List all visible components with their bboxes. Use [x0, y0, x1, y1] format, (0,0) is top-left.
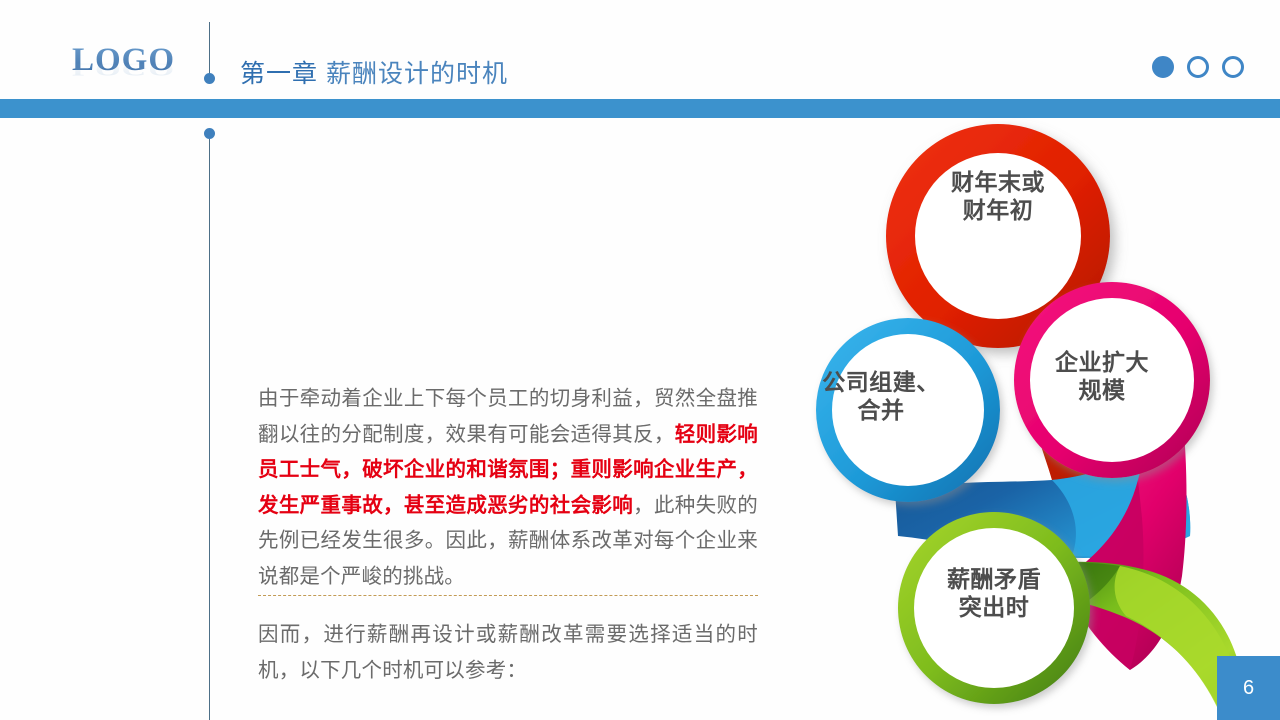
body-paragraph-2: 因而，进行薪酬再设计或薪酬改革需要选择适当的时机，以下几个时机可以参考：	[258, 617, 758, 688]
vertical-rule-top	[209, 22, 210, 74]
pager-dot-3[interactable]	[1222, 56, 1244, 78]
diagram-bubble-green	[898, 512, 1090, 704]
dashed-separator	[258, 595, 758, 596]
pager-dots	[1152, 56, 1244, 78]
pinwheel-diagram	[790, 108, 1280, 720]
pager-dot-2[interactable]	[1187, 56, 1209, 78]
body-paragraph-1: 由于牵动着企业上下每个员工的切身利益，贸然全盘推翻以往的分配制度，效果有可能会适…	[258, 381, 758, 594]
title-label: 薪酬设计的时机	[326, 60, 508, 88]
rule-dot-top-icon	[204, 73, 215, 84]
rule-dot-bottom-icon	[204, 128, 215, 139]
page-number-badge: 6	[1217, 656, 1280, 720]
diagram-bubble-pink	[1014, 282, 1210, 478]
page-title: 第一章 薪酬设计的时机	[240, 54, 508, 90]
pager-dot-1[interactable]	[1152, 56, 1174, 78]
diagram-bubble-blue	[816, 318, 1000, 502]
chapter-label: 第一章	[240, 60, 318, 88]
vertical-rule-bottom	[209, 139, 210, 720]
presentation-slide: LOGO LOGO 第一章 薪酬设计的时机 由于牵动着企业上下每个员工的切身利益…	[0, 0, 1280, 720]
logo-reflection: LOGO	[72, 60, 192, 78]
logo[interactable]: LOGO LOGO	[72, 44, 192, 100]
